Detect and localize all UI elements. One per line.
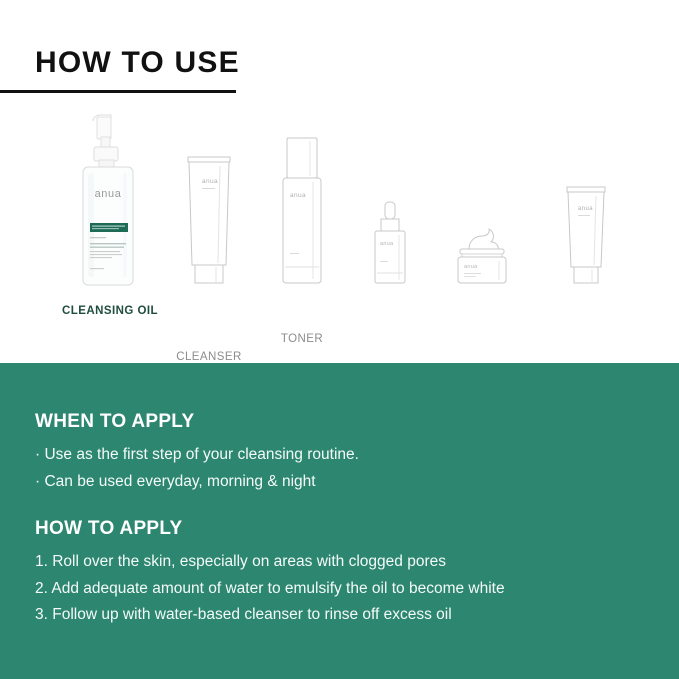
cream-jar-icon: anua: [449, 225, 515, 287]
how-to-apply-item: 1. Roll over the skin, especially on are…: [35, 554, 505, 570]
when-to-apply-heading: WHEN TO APPLY: [35, 411, 359, 433]
svg-text:anua: anua: [464, 264, 478, 270]
title-underline-rule: [0, 90, 236, 93]
how-to-apply-item: 2. Add adequate amount of water to emuls…: [35, 581, 505, 597]
page-title: HOW TO USE: [35, 48, 240, 78]
routine-step-ampoule: anua AMPOULE: [350, 199, 430, 287]
tube-icon: anua: [179, 153, 239, 287]
pump-bottle-icon: anua: [75, 107, 145, 287]
instructions-section: WHEN TO APPLY · Use as the first step of…: [0, 363, 679, 679]
svg-text:anua: anua: [578, 206, 593, 212]
how-to-apply-block: HOW TO APPLY 1. Roll over the skin, espe…: [35, 518, 505, 634]
toner-bottle-icon: anua: [276, 135, 328, 287]
routine-step-cleanser: anua CLEANSER: [163, 153, 255, 287]
routine-step-toner: anua TONER: [259, 135, 345, 287]
how-to-use-section: HOW TO USE an: [0, 0, 679, 363]
svg-text:anua: anua: [380, 241, 394, 247]
when-to-apply-block: WHEN TO APPLY · Use as the first step of…: [35, 411, 359, 500]
when-to-apply-item: · Use as the first step of your cleansin…: [35, 447, 359, 463]
svg-text:anua: anua: [202, 178, 218, 185]
how-to-apply-heading: HOW TO APPLY: [35, 518, 505, 540]
svg-text:anua: anua: [290, 192, 306, 199]
routine-step-sunscreen: anua SUNSCREEN: [542, 183, 630, 287]
sunscreen-tube-icon: anua: [556, 183, 616, 287]
dropper-bottle-icon: anua: [368, 199, 412, 287]
routine-step-label: CLEANSING OIL: [55, 305, 165, 317]
how-to-apply-item: 3. Follow up with water-based cleanser t…: [35, 607, 505, 623]
svg-text:anua: anua: [95, 188, 122, 200]
routine-step-label: CLEANSER: [163, 351, 255, 363]
when-to-apply-item: · Can be used everyday, morning & night: [35, 474, 359, 490]
routine-step-cleansing-oil: anua CLEANSING OIL: [55, 107, 165, 287]
routine-step-moisturizer: anua MOISTURIZER: [435, 225, 529, 287]
routine-steps-strip: anua CLEANSING OIL >: [0, 110, 679, 325]
routine-step-label: TONER: [259, 333, 345, 345]
